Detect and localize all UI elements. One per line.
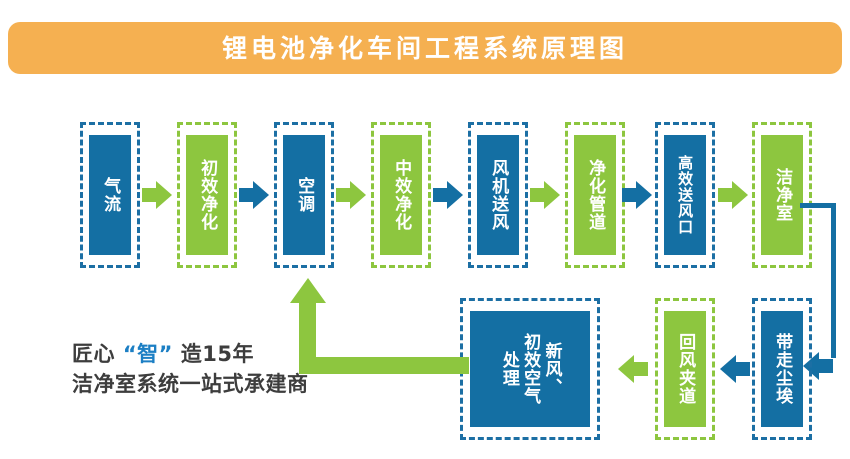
- arrow-head: [720, 355, 736, 383]
- arrow-head: [636, 181, 652, 209]
- flow-node-fan-supply-label: 风机送风: [489, 159, 507, 231]
- arrow-head: [618, 355, 634, 383]
- flow-node-fan-supply[interactable]: 风机送风: [468, 122, 528, 268]
- flow-node-air-conditioner[interactable]: 空调: [274, 122, 334, 268]
- arrow-head: [253, 181, 269, 209]
- slogan-line-1: 匠心 “智” 造15年: [72, 340, 392, 370]
- flow-node-air-conditioner-label: 空调: [295, 177, 313, 213]
- flow-node-carry-dust-label: 带走尘埃: [773, 333, 791, 405]
- flow-node-hepa-outlet-chip: 高效送风口: [664, 135, 706, 255]
- arrow-shaft: [734, 362, 750, 376]
- flow-node-medium-filter-label: 中效净化: [392, 159, 410, 231]
- flow-arrow-fan-supply-to-clean-duct: [530, 181, 562, 209]
- flow-node-return-plenum[interactable]: 回风夹道: [655, 298, 715, 440]
- flow-node-hepa-outlet-label: 高效送风口: [677, 155, 693, 235]
- flow-node-primary-filter[interactable]: 初效净化: [177, 122, 237, 268]
- flow-arrow-air-conditioner-to-medium-filter: [336, 181, 368, 209]
- flow-arrow-primary-filter-to-air-conditioner: [239, 181, 271, 209]
- arrow-head: [447, 181, 463, 209]
- flow-node-cleanroom-chip: 洁净室: [761, 135, 803, 255]
- slogan-line-1-before: 匠心: [72, 342, 123, 366]
- flow-node-carry-dust[interactable]: 带走尘埃: [752, 298, 812, 440]
- flow-arrow-carry-dust-to-return-plenum: [718, 355, 750, 383]
- flow-node-clean-duct-chip: 净化管道: [574, 135, 616, 255]
- flow-arrow-clean-duct-to-hepa-outlet: [622, 181, 654, 209]
- flow-node-medium-filter[interactable]: 中效净化: [371, 122, 431, 268]
- flow-node-cleanroom-label: 洁净室: [773, 168, 791, 222]
- slogan-line-2: 洁净室系统一站式承建商: [72, 370, 392, 400]
- flow-node-medium-filter-chip: 中效净化: [380, 135, 422, 255]
- flow-node-fan-supply-chip: 风机送风: [477, 135, 519, 255]
- flow-node-clean-duct[interactable]: 净化管道: [565, 122, 625, 268]
- flow-node-cleanroom[interactable]: 洁净室: [752, 122, 812, 268]
- slogan-block: 匠心 “智” 造15年 洁净室系统一站式承建商: [72, 340, 392, 400]
- flow-node-return-plenum-label: 回风夹道: [676, 333, 694, 405]
- flow-node-fresh-air-chip: 新风、 初效空气 处理: [470, 311, 590, 427]
- flow-node-hepa-outlet[interactable]: 高效送风口: [655, 122, 715, 268]
- slogan-line-1-highlight: “智”: [123, 342, 173, 366]
- flow-node-primary-filter-chip: 初效净化: [186, 135, 228, 255]
- arrow-head: [350, 181, 366, 209]
- arrow-head: [156, 181, 172, 209]
- fresh-air-column-3: 处理: [499, 351, 517, 387]
- fresh-air-column-1: 新风、: [542, 342, 560, 396]
- slogan-line-1-after: 造15年: [173, 342, 254, 366]
- arrow-head-to-air-conditioner: [290, 278, 326, 303]
- connector-loop-vertical: [831, 203, 836, 358]
- flow-node-airflow[interactable]: 气流: [80, 122, 140, 268]
- flow-node-return-plenum-chip: 回风夹道: [664, 311, 706, 427]
- flow-arrow-hepa-outlet-to-cleanroom: [718, 181, 750, 209]
- flow-node-airflow-chip: 气流: [89, 135, 131, 255]
- flow-arrow-return-plenum-to-fresh-air: [606, 355, 648, 383]
- arrow-head: [544, 181, 560, 209]
- flow-arrow-medium-filter-to-fan-supply: [433, 181, 465, 209]
- flow-node-primary-filter-label: 初效净化: [198, 159, 216, 231]
- arrow-shaft: [817, 359, 833, 373]
- flow-node-air-conditioner-chip: 空调: [283, 135, 325, 255]
- arrow-shaft: [632, 362, 648, 376]
- flow-node-carry-dust-chip: 带走尘埃: [761, 311, 803, 427]
- flow-node-clean-duct-label: 净化管道: [586, 159, 604, 231]
- flow-node-airflow-label: 气流: [101, 177, 119, 213]
- fresh-air-column-2: 初效空气: [521, 333, 539, 405]
- flow-arrow-airflow-to-primary-filter: [142, 181, 174, 209]
- flow-node-fresh-air[interactable]: 新风、 初效空气 处理: [460, 298, 600, 440]
- arrow-head: [732, 181, 748, 209]
